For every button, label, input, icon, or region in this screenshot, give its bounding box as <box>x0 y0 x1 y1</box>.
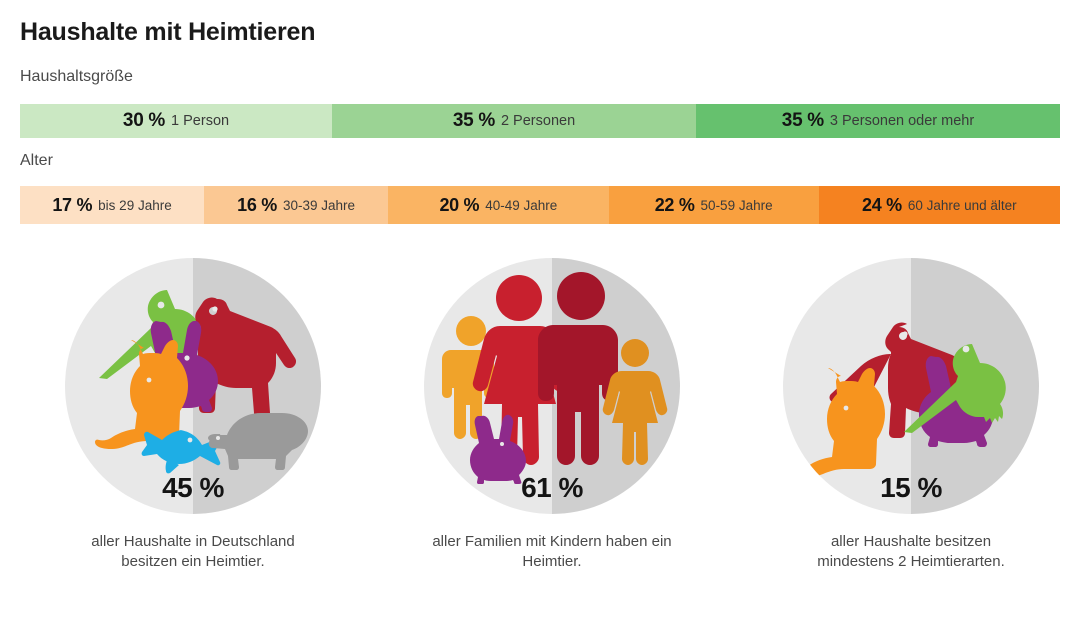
age-segment-3: 20 %40-49 Jahre <box>388 186 608 224</box>
stat-circle-1: 45 % <box>65 258 321 514</box>
cat-icon <box>792 368 885 477</box>
household-segment-1: 30 %1 Person <box>20 104 332 138</box>
circle-background-2: 61 % <box>424 258 680 514</box>
age-segment-label: 60 Jahre und älter <box>908 198 1017 213</box>
caption-line-2: besitzen ein Heimtier. <box>23 552 363 572</box>
caption-line-1: aller Familien mit Kindern haben ein <box>382 532 722 552</box>
household-segment-3: 35 %3 Personen oder mehr <box>696 104 1060 138</box>
circle-caption-3: aller Haushalte besitzen mindestens 2 He… <box>741 532 1080 573</box>
circle-caption-2: aller Familien mit Kindern haben ein Hei… <box>382 532 722 573</box>
household-size-label: Haushaltsgröße <box>20 68 133 86</box>
household-segment-label: 3 Personen oder mehr <box>830 113 974 129</box>
circle-caption-1: aller Haushalte in Deutschland besitzen … <box>23 532 363 573</box>
circle-pct-3: 15 % <box>783 472 1039 504</box>
age-segment-4: 22 %50-59 Jahre <box>609 186 819 224</box>
age-segment-label: 50-59 Jahre <box>701 198 773 213</box>
man-icon <box>538 272 618 465</box>
age-segment-2: 16 %30-39 Jahre <box>204 186 388 224</box>
age-segment-1: 17 %bis 29 Jahre <box>20 186 204 224</box>
household-segment-pct: 35 % <box>453 110 495 132</box>
turtle-icon <box>208 413 308 470</box>
circle-pct-1: 45 % <box>65 472 321 504</box>
household-segment-pct: 35 % <box>782 110 824 132</box>
household-segment-label: 2 Personen <box>501 113 575 129</box>
circle-background-1: 45 % <box>65 258 321 514</box>
age-segment-pct: 16 % <box>237 195 277 216</box>
age-segment-pct: 22 % <box>655 195 695 216</box>
dog-icon <box>195 298 296 418</box>
age-segment-pct: 20 % <box>439 195 479 216</box>
stat-circle-2: 61 % <box>424 258 680 514</box>
caption-line-1: aller Haushalte in Deutschland <box>23 532 363 552</box>
caption-line-1: aller Haushalte besitzen <box>741 532 1080 552</box>
age-bar: 17 %bis 29 Jahre16 %30-39 Jahre20 %40-49… <box>20 186 1060 224</box>
age-segment-pct: 24 % <box>862 195 902 216</box>
caption-line-2: mindestens 2 Heimtierarten. <box>741 552 1080 572</box>
age-label: Alter <box>20 152 53 170</box>
age-segment-label: 30-39 Jahre <box>283 198 355 213</box>
age-segment-label: bis 29 Jahre <box>98 198 172 213</box>
age-segment-label: 40-49 Jahre <box>485 198 557 213</box>
household-segment-label: 1 Person <box>171 113 229 129</box>
page-title: Haushalte mit Heimtieren <box>20 18 315 47</box>
circle-pct-2: 61 % <box>424 472 680 504</box>
fish-icon <box>142 430 221 473</box>
age-segment-pct: 17 % <box>52 195 92 216</box>
household-segment-pct: 30 % <box>123 110 165 132</box>
household-size-bar: 30 %1 Person35 %2 Personen35 %3 Personen… <box>20 104 1060 138</box>
infographic-page: Haushalte mit Heimtieren Haushaltsgröße … <box>0 0 1080 632</box>
circle-background-3: 15 % <box>783 258 1039 514</box>
age-segment-5: 24 %60 Jahre und älter <box>819 186 1060 224</box>
stat-circle-3: 15 % <box>783 258 1039 514</box>
household-segment-2: 35 %2 Personen <box>332 104 696 138</box>
caption-line-2: Heimtier. <box>382 552 722 572</box>
